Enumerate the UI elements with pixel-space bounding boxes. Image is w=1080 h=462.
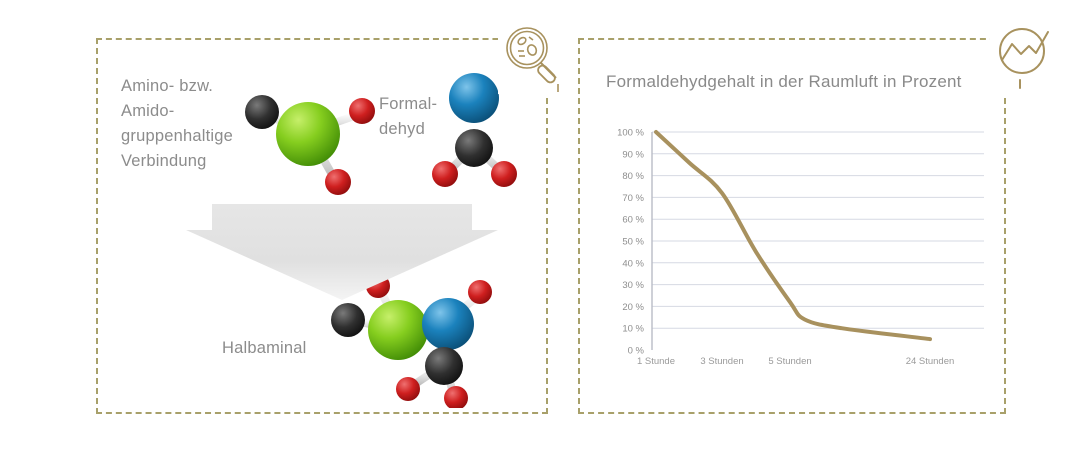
chart-gridlines bbox=[652, 132, 984, 328]
x-tick-label: 5 Stunden bbox=[768, 356, 811, 367]
y-tick-label: 90 % bbox=[622, 149, 644, 160]
chart-title: Formaldehydgehalt in der Raumluft in Pro… bbox=[606, 72, 962, 92]
x-tick-label: 24 Stunden bbox=[906, 356, 955, 367]
y-tick-label: 100 % bbox=[617, 128, 644, 139]
y-tick-label: 60 % bbox=[622, 215, 644, 226]
y-tick-label: 30 % bbox=[622, 280, 644, 291]
y-tick-label: 80 % bbox=[622, 171, 644, 182]
x-tick-label: 1 Stunde bbox=[637, 356, 675, 367]
chart-x-tick-labels: 1 Stunde3 Stunden5 Stunden24 Stunden bbox=[637, 356, 954, 367]
y-tick-label: 40 % bbox=[622, 258, 644, 269]
y-tick-label: 0 % bbox=[628, 346, 645, 357]
chart-series-line bbox=[656, 132, 930, 339]
magnifier-molecules-icon bbox=[498, 20, 572, 94]
line-chart: 0 %10 %20 %30 %40 %50 %60 %70 %80 %90 %1… bbox=[600, 120, 990, 368]
y-tick-label: 20 % bbox=[622, 302, 644, 313]
amino-compound-molecule bbox=[238, 82, 386, 200]
y-tick-label: 10 % bbox=[622, 324, 644, 335]
chart-y-tick-labels: 0 %10 %20 %30 %40 %50 %60 %70 %80 %90 %1… bbox=[617, 128, 644, 357]
y-tick-label: 50 % bbox=[622, 237, 644, 248]
trend-line-circle-icon bbox=[990, 20, 1064, 94]
x-tick-label: 3 Stunden bbox=[700, 356, 743, 367]
reaction-arrow-down bbox=[186, 204, 498, 300]
y-tick-label: 70 % bbox=[622, 193, 644, 204]
